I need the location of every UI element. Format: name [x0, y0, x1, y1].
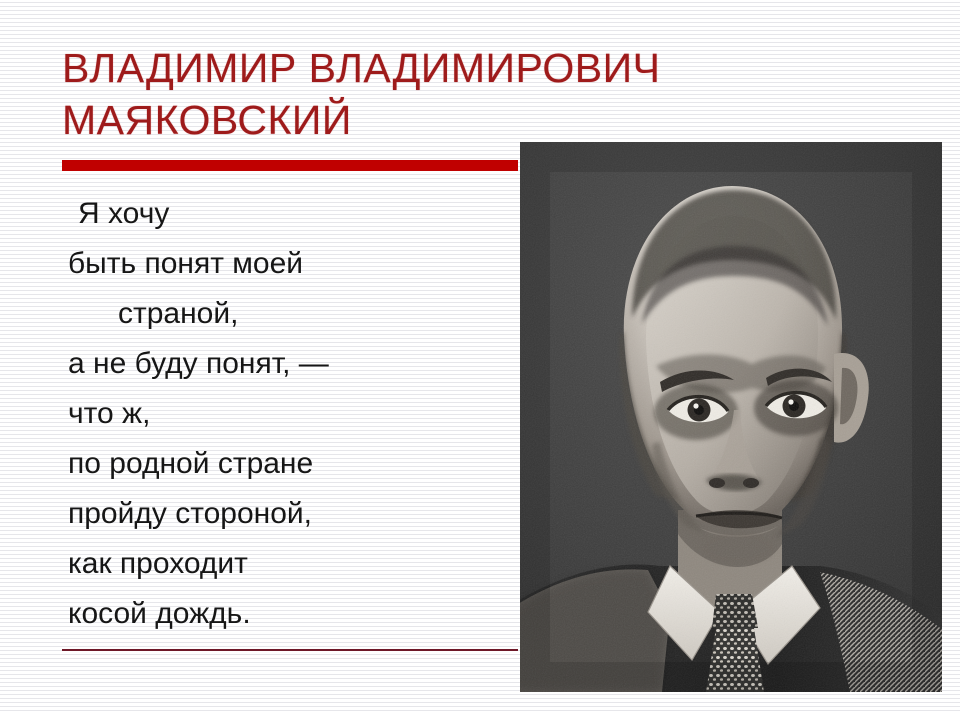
poem-line: как проходит [68, 539, 498, 589]
slide-canvas: ВЛАДИМИР ВЛАДИМИРОВИЧ МАЯКОВСКИЙ Я хочу … [0, 0, 960, 713]
poem-line: Я хочу [68, 189, 498, 239]
poem-line: а не буду понят, — [68, 339, 498, 389]
title-line-2: МАЯКОВСКИЙ [62, 94, 762, 146]
poem-block: Я хочу быть понят моей страной, а не буд… [68, 189, 498, 639]
portrait-photo [520, 142, 942, 692]
poem-line: косой дождь. [68, 589, 498, 639]
poem-line: быть понят моей [68, 239, 498, 289]
page-title: ВЛАДИМИР ВЛАДИМИРОВИЧ МАЯКОВСКИЙ [62, 42, 762, 146]
poem-line: пройду стороной, [68, 489, 498, 539]
title-divider [62, 160, 518, 171]
poem-line: страной, [68, 289, 498, 339]
poem-line: что ж, [68, 389, 498, 439]
title-line-1: ВЛАДИМИР ВЛАДИМИРОВИЧ [62, 42, 762, 94]
bottom-divider [62, 649, 518, 651]
portrait-photo-graphic [520, 142, 942, 692]
poem-line: по родной стране [68, 439, 498, 489]
